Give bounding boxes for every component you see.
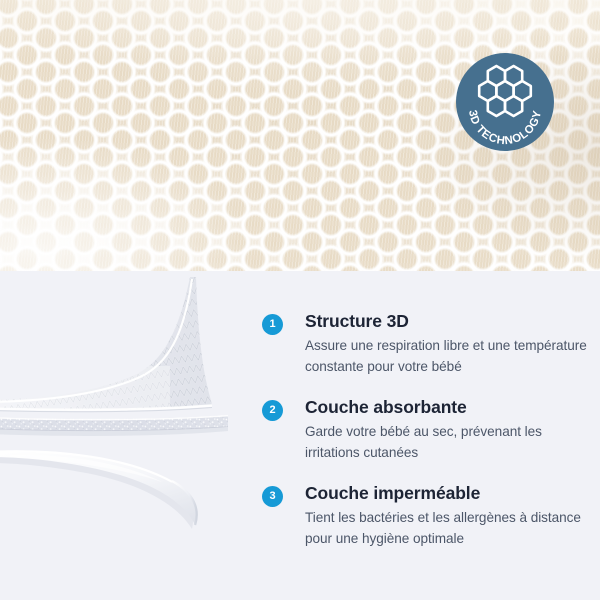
feature-item-3: 3 Couche imperméable Tient les bactéries… — [262, 483, 587, 549]
absorbent-layer — [0, 415, 228, 436]
features-panel: 1 Structure 3D Assure une respiration li… — [0, 271, 600, 600]
hero-fabric-photo: 3D TECHNOLOGY — [0, 0, 600, 271]
mattress-layers-illustration — [0, 271, 250, 600]
feature-description-3: Tient les bactéries et les allergènes à … — [305, 508, 587, 549]
waterproof-layer — [0, 450, 197, 529]
feature-number-badge-1: 1 — [262, 314, 283, 335]
feature-item-1: 1 Structure 3D Assure une respiration li… — [262, 311, 587, 377]
feature-title-1: Structure 3D — [305, 311, 587, 333]
feature-title-3: Couche imperméable — [305, 483, 587, 505]
feature-number-badge-2: 2 — [262, 400, 283, 421]
feature-description-1: Assure une respiration libre et une temp… — [305, 336, 587, 377]
feature-number-badge-3: 3 — [262, 486, 283, 507]
product-infographic: 3D TECHNOLOGY — [0, 0, 600, 600]
3d-technology-badge: 3D TECHNOLOGY — [455, 52, 555, 152]
feature-description-2: Garde votre bébé au sec, prévenant les i… — [305, 422, 587, 463]
feature-item-2: 2 Couche absorbante Garde votre bébé au … — [262, 397, 587, 463]
mesh-layer-3d — [0, 271, 225, 416]
feature-title-2: Couche absorbante — [305, 397, 587, 419]
feature-list: 1 Structure 3D Assure une respiration li… — [262, 311, 587, 550]
